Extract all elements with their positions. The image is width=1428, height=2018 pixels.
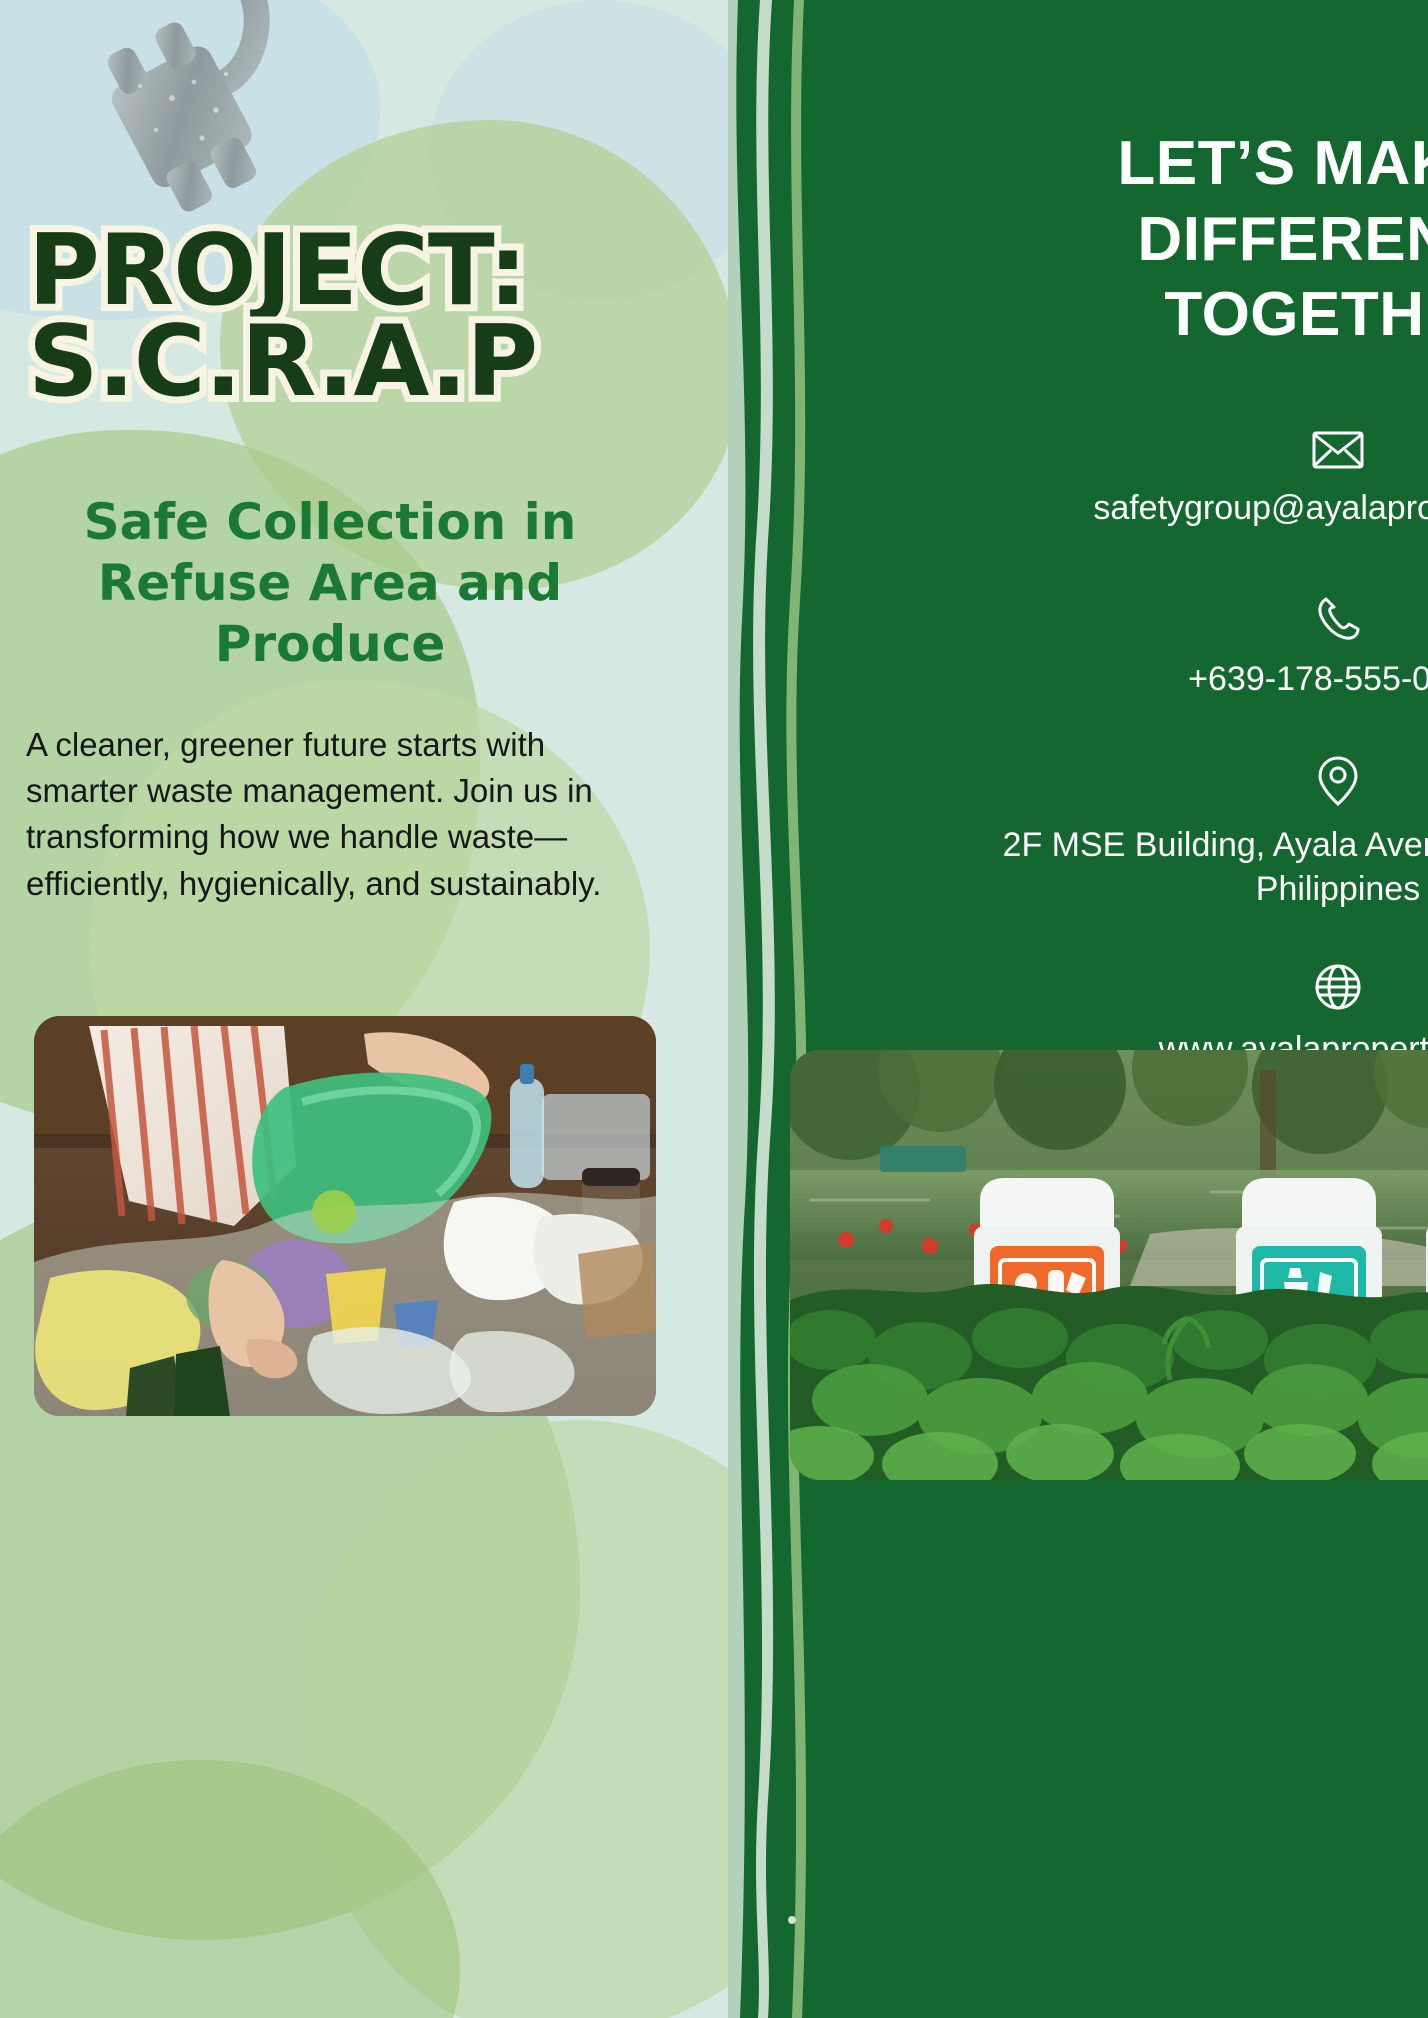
page-headline: LET’S MAKE A DIFFERENCE TOGETHER xyxy=(888,126,1428,353)
headline-line-1: LET’S MAKE A xyxy=(888,126,1428,202)
headline-line-2: DIFFERENCE xyxy=(888,202,1428,278)
contact-address-line-2: Philippines xyxy=(878,868,1428,912)
contact-email-text: safetygroup@ayalaproperty.com xyxy=(878,487,1428,531)
spacer xyxy=(878,917,1428,963)
photo-waste-sorting xyxy=(34,1016,656,1416)
left-content: PROJECT: S.C.R.A.P Safe Collection in Re… xyxy=(0,0,700,2018)
photo-recycling-bins xyxy=(790,1050,1428,1480)
title-line-2: S.C.R.A.P xyxy=(28,317,648,408)
green-panel: LET’S MAKE A DIFFERENCE TOGETHER safetyg… xyxy=(728,0,1428,2018)
spacer xyxy=(878,707,1428,755)
headline-line-3: TOGETHER xyxy=(888,277,1428,353)
title-line-1: PROJECT: xyxy=(28,226,648,317)
globe-icon xyxy=(878,963,1428,1016)
page-title: PROJECT: S.C.R.A.P xyxy=(28,226,648,408)
phone-icon xyxy=(878,595,1428,646)
brush-stroke-decoration xyxy=(728,0,848,2018)
contact-phone-text: +639-178-555-0147 xyxy=(878,658,1428,702)
contact-block: safetygroup@ayalaproperty.com +639-178-5… xyxy=(878,430,1428,1078)
contact-address-line-1: 2F MSE Building, Ayala Avenue, Makati Ci… xyxy=(878,824,1428,868)
envelope-icon xyxy=(878,430,1428,475)
location-pin-icon xyxy=(878,755,1428,812)
body-paragraph: A cleaner, greener future starts with sm… xyxy=(26,722,646,907)
page-subtitle: Safe Collection in Refuse Area and Produ… xyxy=(30,492,630,675)
spacer xyxy=(878,537,1428,595)
poster-canvas: LET’S MAKE A DIFFERENCE TOGETHER safetyg… xyxy=(0,0,1428,2018)
contact-email-row[interactable]: safetygroup@ayalaproperty.com xyxy=(878,430,1428,531)
contact-address-row[interactable]: 2F MSE Building, Ayala Avenue, Makati Ci… xyxy=(878,755,1428,911)
contact-phone-row[interactable]: +639-178-555-0147 xyxy=(878,595,1428,702)
